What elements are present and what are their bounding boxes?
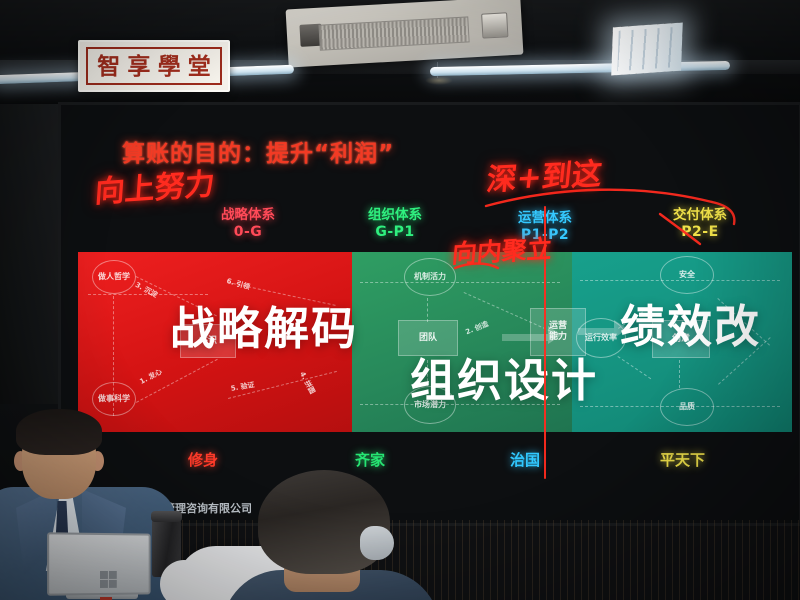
- presenter-hair: [16, 409, 102, 455]
- column-header-strategy-code: 0-G: [188, 224, 308, 241]
- wall-left-edge: [0, 104, 60, 404]
- column-header-delivery-cn: 交付体系: [640, 208, 760, 224]
- column-header-delivery-code: P2-E: [640, 224, 760, 241]
- column-header-strategy: 战略体系 0-G: [188, 208, 308, 240]
- ceiling-cable-knot: [425, 76, 453, 85]
- column-header-organization-code: G-P1: [335, 224, 455, 241]
- overlay-heading-strategy-decode: 战略解码: [170, 292, 358, 357]
- column-header-organization: 组织体系 G-P1: [335, 208, 455, 240]
- photo-scene: 智 享 學 堂 算账的目的：提升“利润” 战略体系 0-G 组织体系 G-P1 …: [0, 0, 800, 600]
- led-panel-light: [611, 22, 683, 75]
- surface-laptop: [40, 533, 160, 600]
- node-yunying: 运营: [549, 321, 567, 332]
- column-header-operation-cn: 运营体系: [485, 211, 605, 227]
- step-label-faxin: 1. 发心: [138, 367, 164, 387]
- logo-glyph-4: 堂: [188, 55, 211, 78]
- handwritten-note-top-left: 向上努力: [94, 159, 217, 212]
- microsoft-logo-icon: [100, 571, 117, 588]
- laptop-lid: [47, 532, 150, 595]
- node-shi-kexue: 做事科学: [92, 382, 136, 416]
- footer-label-pingtianxia: 平天下: [660, 449, 705, 470]
- column-header-strategy-cn: 战略体系: [188, 208, 308, 224]
- node-anquan: 安全: [660, 256, 714, 294]
- attendee-face-mask: [360, 526, 394, 560]
- academy-logo-sign: 智 享 學 堂: [78, 40, 230, 92]
- step-label-chendian: 3. 沉淀: [133, 280, 159, 300]
- handwritten-note-top-right: 深+到这: [485, 149, 605, 199]
- logo-glyph-3: 學: [158, 55, 181, 78]
- footer-label-qijia: 齐家: [355, 449, 385, 470]
- footer-label-zhiguo: 治国: [510, 449, 540, 470]
- logo-glyph-2: 享: [127, 55, 150, 78]
- node-nengli: 能力: [549, 332, 567, 343]
- step-label-yinling: 6. 引领: [225, 276, 251, 292]
- column-header-organization-cn: 组织体系: [335, 208, 455, 224]
- thermos-cap: [151, 511, 182, 522]
- node-ren-zhexue: 做人哲学: [92, 260, 136, 294]
- node-jizhi-huoli: 机制活力: [404, 258, 456, 296]
- step-label-pinyuan: 4. 拼圆: [297, 370, 317, 396]
- attendee-figure: [236, 470, 446, 600]
- node-pinzhi: 品质: [660, 388, 714, 426]
- footer-label-xiushen: 修身: [188, 449, 218, 470]
- logo-frame: 智 享 學 堂: [86, 47, 222, 85]
- logo-glyph-1: 智: [97, 55, 120, 78]
- overlay-heading-performance: 绩效改: [620, 290, 761, 355]
- step-label-chuangzao: 2. 创造: [464, 319, 490, 337]
- handwritten-note-center: 向内聚立: [450, 229, 553, 270]
- ac-grille: [318, 16, 469, 50]
- overlay-heading-org-design: 组织设计: [410, 344, 598, 409]
- column-header-delivery: 交付体系 P2-E: [640, 208, 760, 240]
- ac-vent-right: [481, 12, 508, 38]
